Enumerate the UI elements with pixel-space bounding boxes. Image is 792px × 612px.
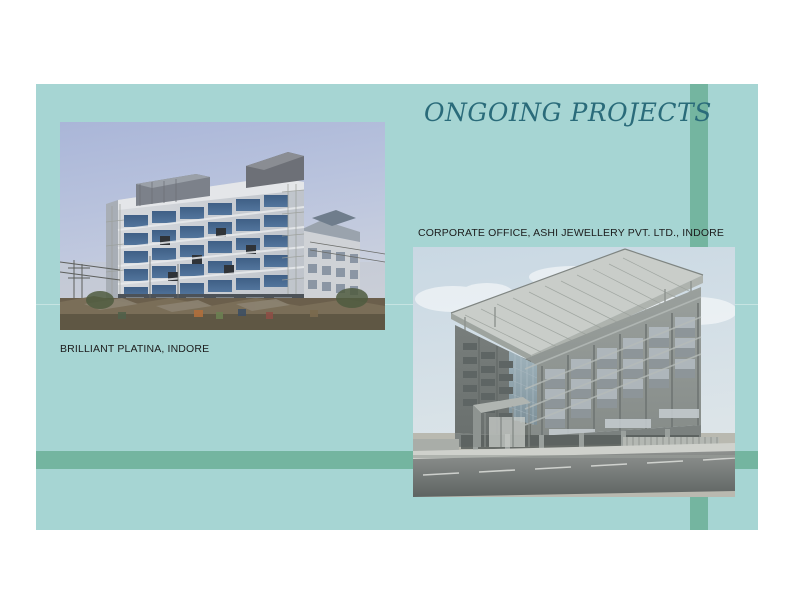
page-title: ONGOING PROJECTS (424, 98, 712, 127)
project-caption-ashi-jewellery: CORPORATE OFFICE, ASHI JEWELLERY PVT. LT… (418, 227, 724, 239)
project-image-ashi-jewellery (413, 247, 735, 497)
project-caption-brilliant-platina: BRILLIANT PLATINA, INDORE (60, 343, 209, 355)
slide-canvas: ONGOING PROJECTS (0, 0, 792, 612)
project-image-brilliant-platina (60, 122, 385, 330)
